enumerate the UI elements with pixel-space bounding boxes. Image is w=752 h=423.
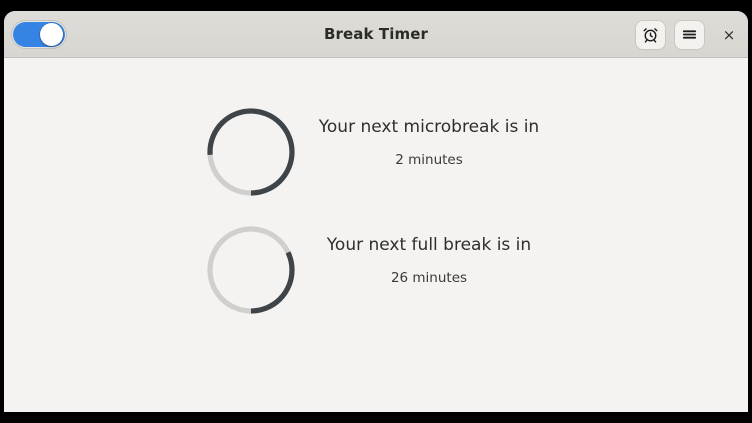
full-break-title: Your next full break is in	[304, 234, 554, 256]
close-window-button[interactable]: ×	[716, 21, 742, 49]
microbreak-progress-ring	[205, 106, 297, 198]
window-titlebar: Break Timer	[4, 11, 748, 58]
hamburger-menu-icon	[675, 26, 704, 43]
full-break-row: Your next full break is in 26 minutes	[4, 224, 748, 344]
break-timer-window: Break Timer	[4, 11, 748, 412]
full-break-labels: Your next full break is in 26 minutes	[304, 234, 554, 287]
take-break-now-button[interactable]	[636, 21, 665, 49]
microbreak-labels: Your next microbreak is in 2 minutes	[304, 116, 554, 169]
full-break-time-remaining: 26 minutes	[304, 269, 554, 287]
desktop-background: Break Timer	[0, 0, 752, 423]
main-menu-button[interactable]	[675, 21, 704, 49]
main-content: Your next microbreak is in 2 minutes You…	[4, 58, 748, 412]
microbreak-title: Your next microbreak is in	[304, 116, 554, 138]
alarm-icon	[636, 26, 665, 43]
close-icon: ×	[723, 26, 736, 44]
microbreak-row: Your next microbreak is in 2 minutes	[4, 106, 748, 226]
microbreak-time-remaining: 2 minutes	[304, 151, 554, 169]
full-break-progress-ring	[205, 224, 297, 316]
